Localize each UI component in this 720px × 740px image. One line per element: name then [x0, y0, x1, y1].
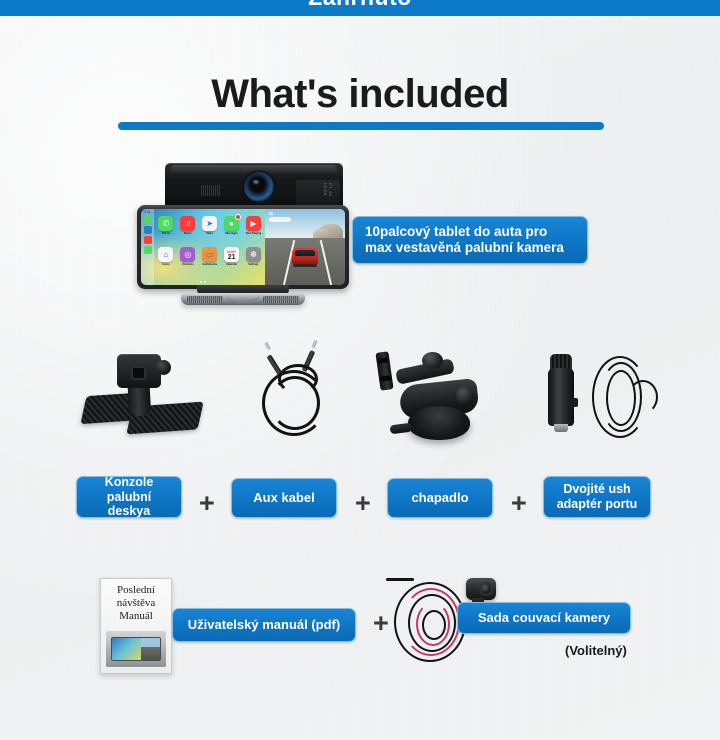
separator-plus-1: + — [199, 490, 215, 517]
carplay-ui: 9:41 ✆Phone♫Music➤Maps●Messages▶Now Play… — [141, 209, 265, 285]
manual-cover: Poslední návštěva Manuál — [100, 578, 172, 674]
mount-knob-right — [456, 386, 474, 406]
accessory-image-manual: Poslední návštěva Manuál — [100, 578, 172, 674]
carplay-app-icon: ♫ — [180, 216, 195, 231]
carplay-app-icon: ◎ — [180, 247, 195, 262]
manual-photo-carplay — [112, 638, 141, 660]
page-dots — [200, 281, 206, 283]
accessory-label-charger-line2: adaptér portu — [557, 497, 638, 511]
carplay-app-label: Maps — [206, 232, 213, 235]
console-mount-socket — [131, 366, 146, 380]
accessory-label-manual-text: Uživatelský manuál (pdf) — [188, 617, 340, 632]
accessory-label-mount-text: chapadlo — [411, 490, 468, 505]
carplay-app-label: Settings — [248, 263, 258, 266]
accessory-image-aux-cable — [244, 340, 354, 450]
aux-cable-loop-top — [278, 364, 318, 394]
separator-plus-4: + — [373, 610, 389, 637]
status-time: 9:41 — [145, 211, 151, 214]
aux-tip-left — [264, 342, 271, 350]
reversing-camera-wire-fan — [386, 578, 414, 581]
carplay-app[interactable]: ☸Settings — [244, 247, 264, 276]
mount-knob-top — [422, 352, 443, 369]
accessory-label-reversing-camera-text: Sada couvací kamery — [478, 610, 610, 625]
manual-photo-dashcam — [141, 638, 160, 660]
carplay-app-icon: ⌂ — [158, 247, 173, 262]
carplay-app-icon: ▭ — [202, 247, 217, 262]
accessory-image-suction-mount — [378, 338, 500, 453]
rail-icon-music — [144, 236, 152, 244]
accessory-label-console-line1: Konzole — [105, 475, 154, 489]
accessory-label-aux[interactable]: Aux kabel — [231, 478, 337, 518]
carplay-app[interactable]: ✆Phone — [156, 216, 176, 245]
accessory-label-charger[interactable]: Dvojité ush adaptér portu — [543, 476, 651, 518]
carplay-app[interactable]: ⌂Home — [156, 247, 176, 276]
cloud-icon — [269, 217, 291, 222]
accessory-label-reversing-camera[interactable]: Sada couvací kamery — [457, 602, 631, 634]
accessory-image-console — [84, 342, 204, 452]
mount-phone-clip — [375, 351, 393, 390]
dashcam-module: FT-4K-LESS — [165, 163, 343, 211]
aux-tip-right — [312, 340, 318, 349]
charger-side-button — [571, 398, 578, 407]
carplay-app-icon: ▶ — [246, 216, 261, 231]
page-title: What's included — [0, 72, 720, 117]
carplay-sidebar: 9:41 — [141, 209, 154, 285]
carplay-app[interactable]: ➤Maps — [200, 216, 220, 245]
carplay-app-label: Calendar — [226, 263, 237, 266]
stand-swoosh — [226, 294, 260, 303]
mount-suction-cup — [408, 406, 470, 440]
rail-icon-phone — [144, 216, 152, 224]
carplay-app[interactable]: ♫Music — [178, 216, 198, 245]
accessory-label-aux-text: Aux kabel — [253, 490, 314, 505]
stand-base — [181, 293, 305, 305]
carplay-app-icon: ☸ — [246, 247, 261, 262]
carplay-app-icon: ➤ — [202, 216, 217, 231]
top-banner: Zahrnuto — [0, 0, 720, 16]
charger-body — [548, 368, 574, 426]
speaker-grille-icon — [201, 185, 221, 196]
console-knob — [156, 360, 171, 375]
carplay-app-grid: ✆Phone♫Music➤Maps●Messages▶Now Playing⌂H… — [156, 216, 263, 276]
rail-icon-messages — [144, 246, 152, 254]
reversing-camera-head — [466, 578, 496, 600]
separator-plus-3: + — [511, 490, 527, 517]
dashcam-preview — [265, 209, 345, 285]
carplay-app[interactable]: ◎Podcasts — [178, 247, 198, 276]
accessory-label-charger-line1: Dvojité ush — [563, 482, 630, 496]
carplay-app-label: Music — [184, 232, 191, 235]
car-ahead — [292, 248, 318, 265]
accessory-image-usb-charger — [540, 340, 666, 452]
carplay-app[interactable]: ▶Now Playing — [244, 216, 264, 245]
stand-grip-right — [263, 296, 299, 303]
notification-badge — [235, 214, 241, 220]
carplay-app[interactable]: ●Messages — [222, 216, 242, 245]
carplay-app-label: Podcasts — [182, 263, 194, 266]
rail-icon-maps — [144, 226, 152, 234]
reversing-camera-lens-icon — [479, 582, 493, 596]
accessory-label-console[interactable]: Konzole palubní deskya — [76, 476, 182, 518]
camera-lens-icon — [244, 172, 274, 202]
carplay-app-label: Now Playing — [246, 232, 261, 235]
rcam-coil-3 — [422, 610, 446, 640]
tablet-housing: 9:41 ✆Phone♫Music➤Maps●Messages▶Now Play… — [137, 205, 349, 289]
carplay-app-icon: ● — [224, 216, 239, 231]
carplay-app-label: Audiobooks — [202, 263, 217, 266]
separator-plus-2: + — [355, 490, 371, 517]
top-banner-title: Zahrnuto — [0, 0, 720, 11]
carplay-app-icon: ✆ — [158, 216, 173, 231]
title-underline — [118, 122, 604, 130]
carplay-app[interactable]: MAR21Calendar — [222, 247, 242, 276]
callout-main-product[interactable]: 10palcový tablet do auta pro max vestavě… — [352, 216, 588, 264]
manual-title-line2: návštěva — [117, 597, 155, 609]
product-image-car-tablet: FT-4K-LESS 9:41 ✆Phone♫Music➤Maps●Messag… — [137, 163, 367, 308]
manual-cover-product-photo — [106, 631, 166, 667]
carplay-app-label: Home — [162, 263, 169, 266]
carplay-app-label: Messages — [225, 232, 237, 235]
manual-cover-title: Poslední návštěva Manuál — [104, 584, 168, 623]
tablet-screen: 9:41 ✆Phone♫Music➤Maps●Messages▶Now Play… — [141, 209, 345, 285]
recording-indicator — [269, 212, 273, 215]
accessory-label-manual[interactable]: Uživatelský manuál (pdf) — [172, 608, 356, 642]
carplay-app[interactable]: ▭Audiobooks — [200, 247, 220, 276]
accessory-label-console-line2: palubní deskya — [107, 490, 151, 519]
stand-grip-left — [187, 296, 223, 303]
callout-main-product-label: 10palcový tablet do auta pro max vestavě… — [365, 224, 577, 256]
carplay-app-icon: MAR21 — [224, 247, 239, 262]
manual-title-line1: Poslední — [117, 584, 155, 596]
carplay-app-label: Phone — [162, 232, 170, 235]
mount-release-lever — [390, 423, 413, 435]
manual-photo-screen — [111, 637, 161, 661]
charger-contact-tip — [554, 424, 568, 432]
manual-title-line3: Manuál — [119, 610, 153, 622]
optional-note: (Volitelný) — [565, 643, 627, 658]
accessory-label-mount[interactable]: chapadlo — [387, 478, 493, 518]
charger-cable-tail — [628, 380, 658, 414]
calendar-day: 21 — [228, 254, 236, 261]
